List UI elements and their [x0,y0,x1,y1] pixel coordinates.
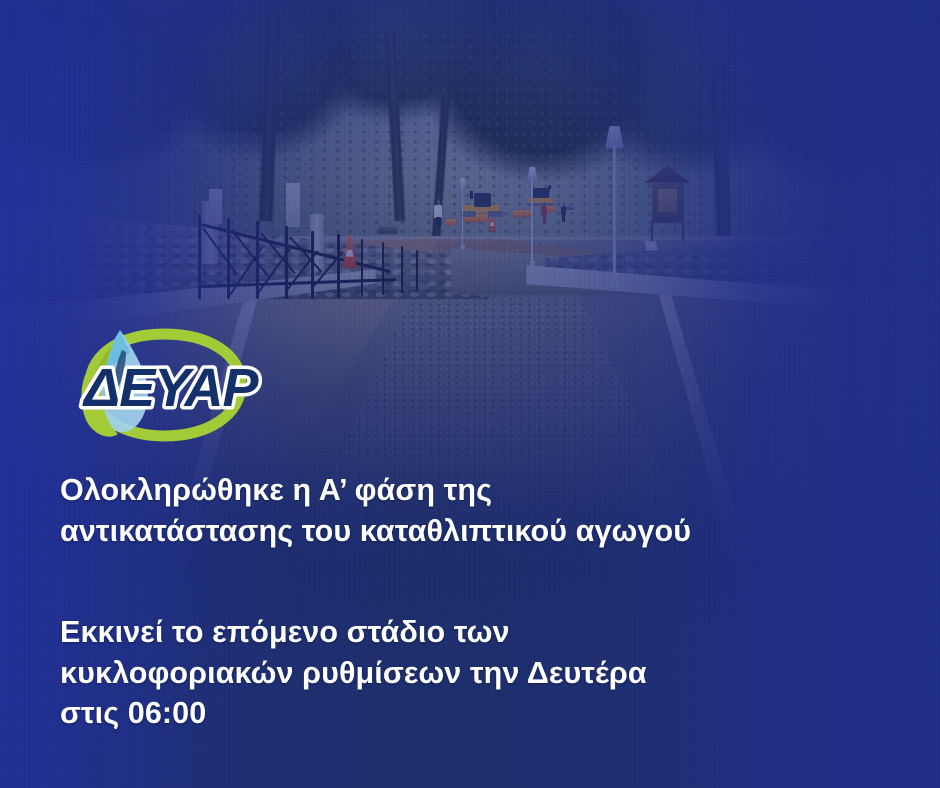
subline-line-2: κυκλοφοριακών ρυθμίσεων την Δευτέρα [60,653,880,694]
logo-wordmark: ΔΕΥΑΡ [82,358,259,418]
announcement-poster: ΔΕΥΑΡ Ολοκληρώθηκε η Α’ φάση της αντικατ… [0,0,940,788]
subline-line-1: Εκκινεί το επόμενο στάδιο των [60,612,880,653]
headline-block: Ολοκληρώθηκε η Α’ φάση της αντικατάσταση… [60,470,880,551]
subline-block: Εκκινεί το επόμενο στάδιο των κυκλοφορια… [60,612,880,734]
subline-line-3: στις 06:00 [60,693,880,734]
deyar-logo: ΔΕΥΑΡ [60,324,258,446]
headline-line-2: αντικατάστασης του καταθλιπτικού αγωγού [60,511,880,552]
headline-line-1: Ολοκληρώθηκε η Α’ φάση της [60,470,880,511]
